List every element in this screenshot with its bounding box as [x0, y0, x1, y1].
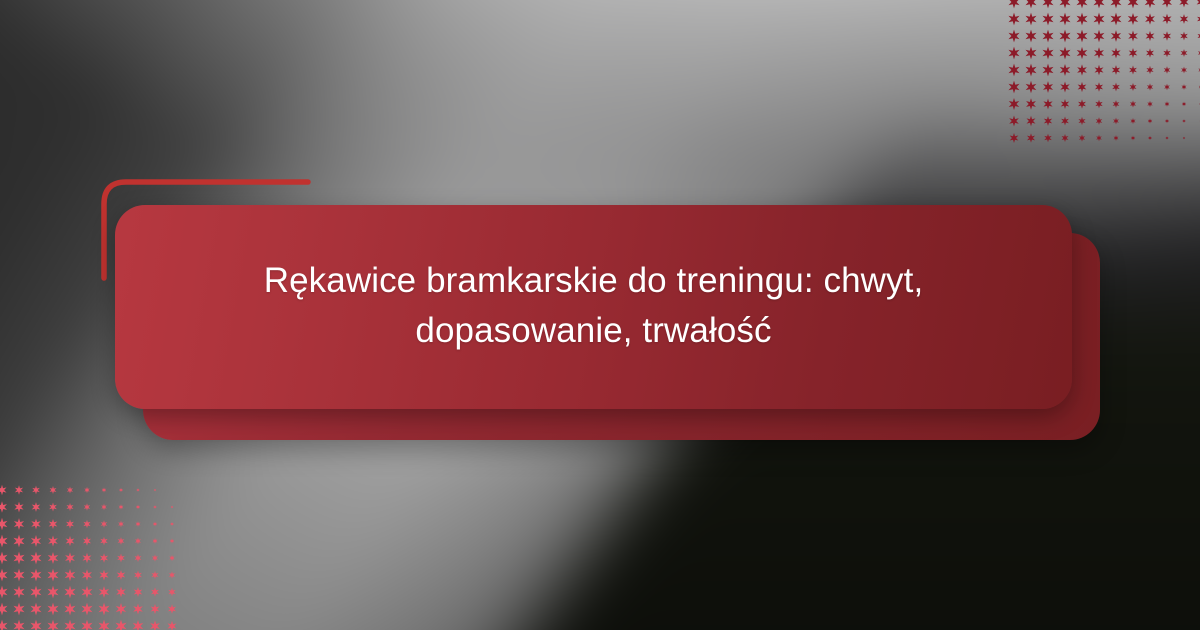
page-title: Rękawice bramkarskie do treningu: chwyt,… [189, 256, 999, 357]
share-card-canvas: Rękawice bramkarskie do treningu: chwyt,… [0, 0, 1200, 630]
headline-card: Rękawice bramkarskie do treningu: chwyt,… [115, 205, 1072, 409]
